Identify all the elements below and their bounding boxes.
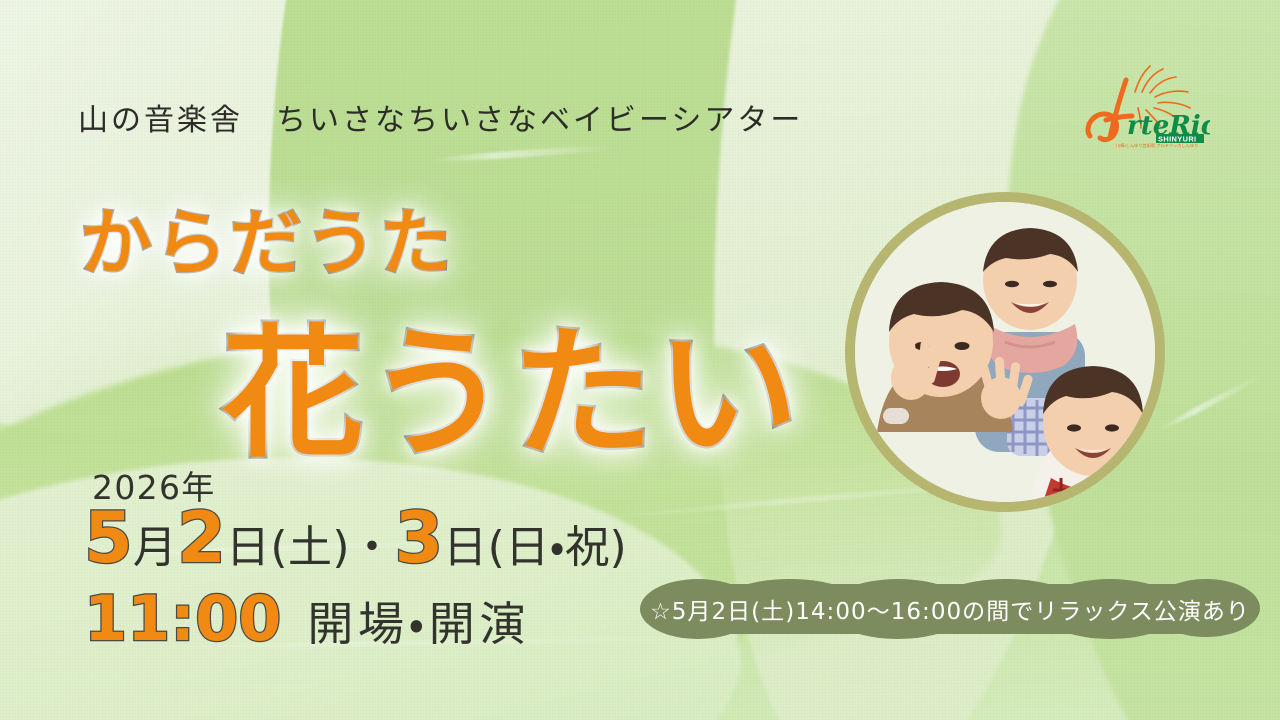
date-separator: ・ [350, 526, 394, 570]
relax-performance-banner: ☆5月2日(土)14:00〜16:00の間でリラックス公演あり [640, 578, 1260, 640]
logo-jp-caption: 川崎・しんゆり芸術祭 アルテリッカしんゆり [1116, 142, 1198, 148]
time-minute: 00 [195, 588, 281, 650]
day2-unit: 日 [443, 526, 487, 570]
date-line: 5月2日(土)・3日(日・祝) [84, 503, 627, 573]
time-label: 開場・開演 [307, 601, 530, 647]
organizer-line: 山の音楽舎 ちいさなちいさなベイビーシアター [78, 95, 803, 139]
photo-circle-frame [845, 192, 1165, 512]
brush-streak [1156, 372, 1265, 434]
day1-number: 2 [177, 503, 226, 573]
banner-text: ☆5月2日(土)14:00〜16:00の間でリラックス公演あり [640, 578, 1260, 640]
day1-weekday: (土) [270, 526, 350, 570]
poster-canvas: 山の音楽舎 ちいさなちいさなベイビーシアター rteRicca [0, 0, 1280, 720]
time-line: 11:00開場・開演 [84, 588, 530, 650]
time-colon: : [170, 588, 195, 650]
logo-mark: rteRicca SHINYURI 川崎・しんゆり芸術祭 アルテリッカしんゆり [1080, 58, 1210, 148]
day2-number: 3 [394, 503, 443, 573]
title-small: からだうた [80, 184, 454, 289]
day2-weekday: (日・祝) [488, 526, 628, 570]
day1-unit: 日 [226, 526, 270, 570]
baby-photo-illustration [855, 202, 1155, 502]
time-hour: 11 [84, 588, 170, 650]
month-unit: 月 [133, 526, 177, 570]
brush-streak [430, 143, 620, 163]
arte-ricca-logo: rteRicca SHINYURI 川崎・しんゆり芸術祭 アルテリッカしんゆり [1080, 58, 1210, 148]
baby-photo [855, 202, 1155, 502]
title-large: 花うたい [222, 278, 801, 484]
month-number: 5 [84, 503, 133, 573]
